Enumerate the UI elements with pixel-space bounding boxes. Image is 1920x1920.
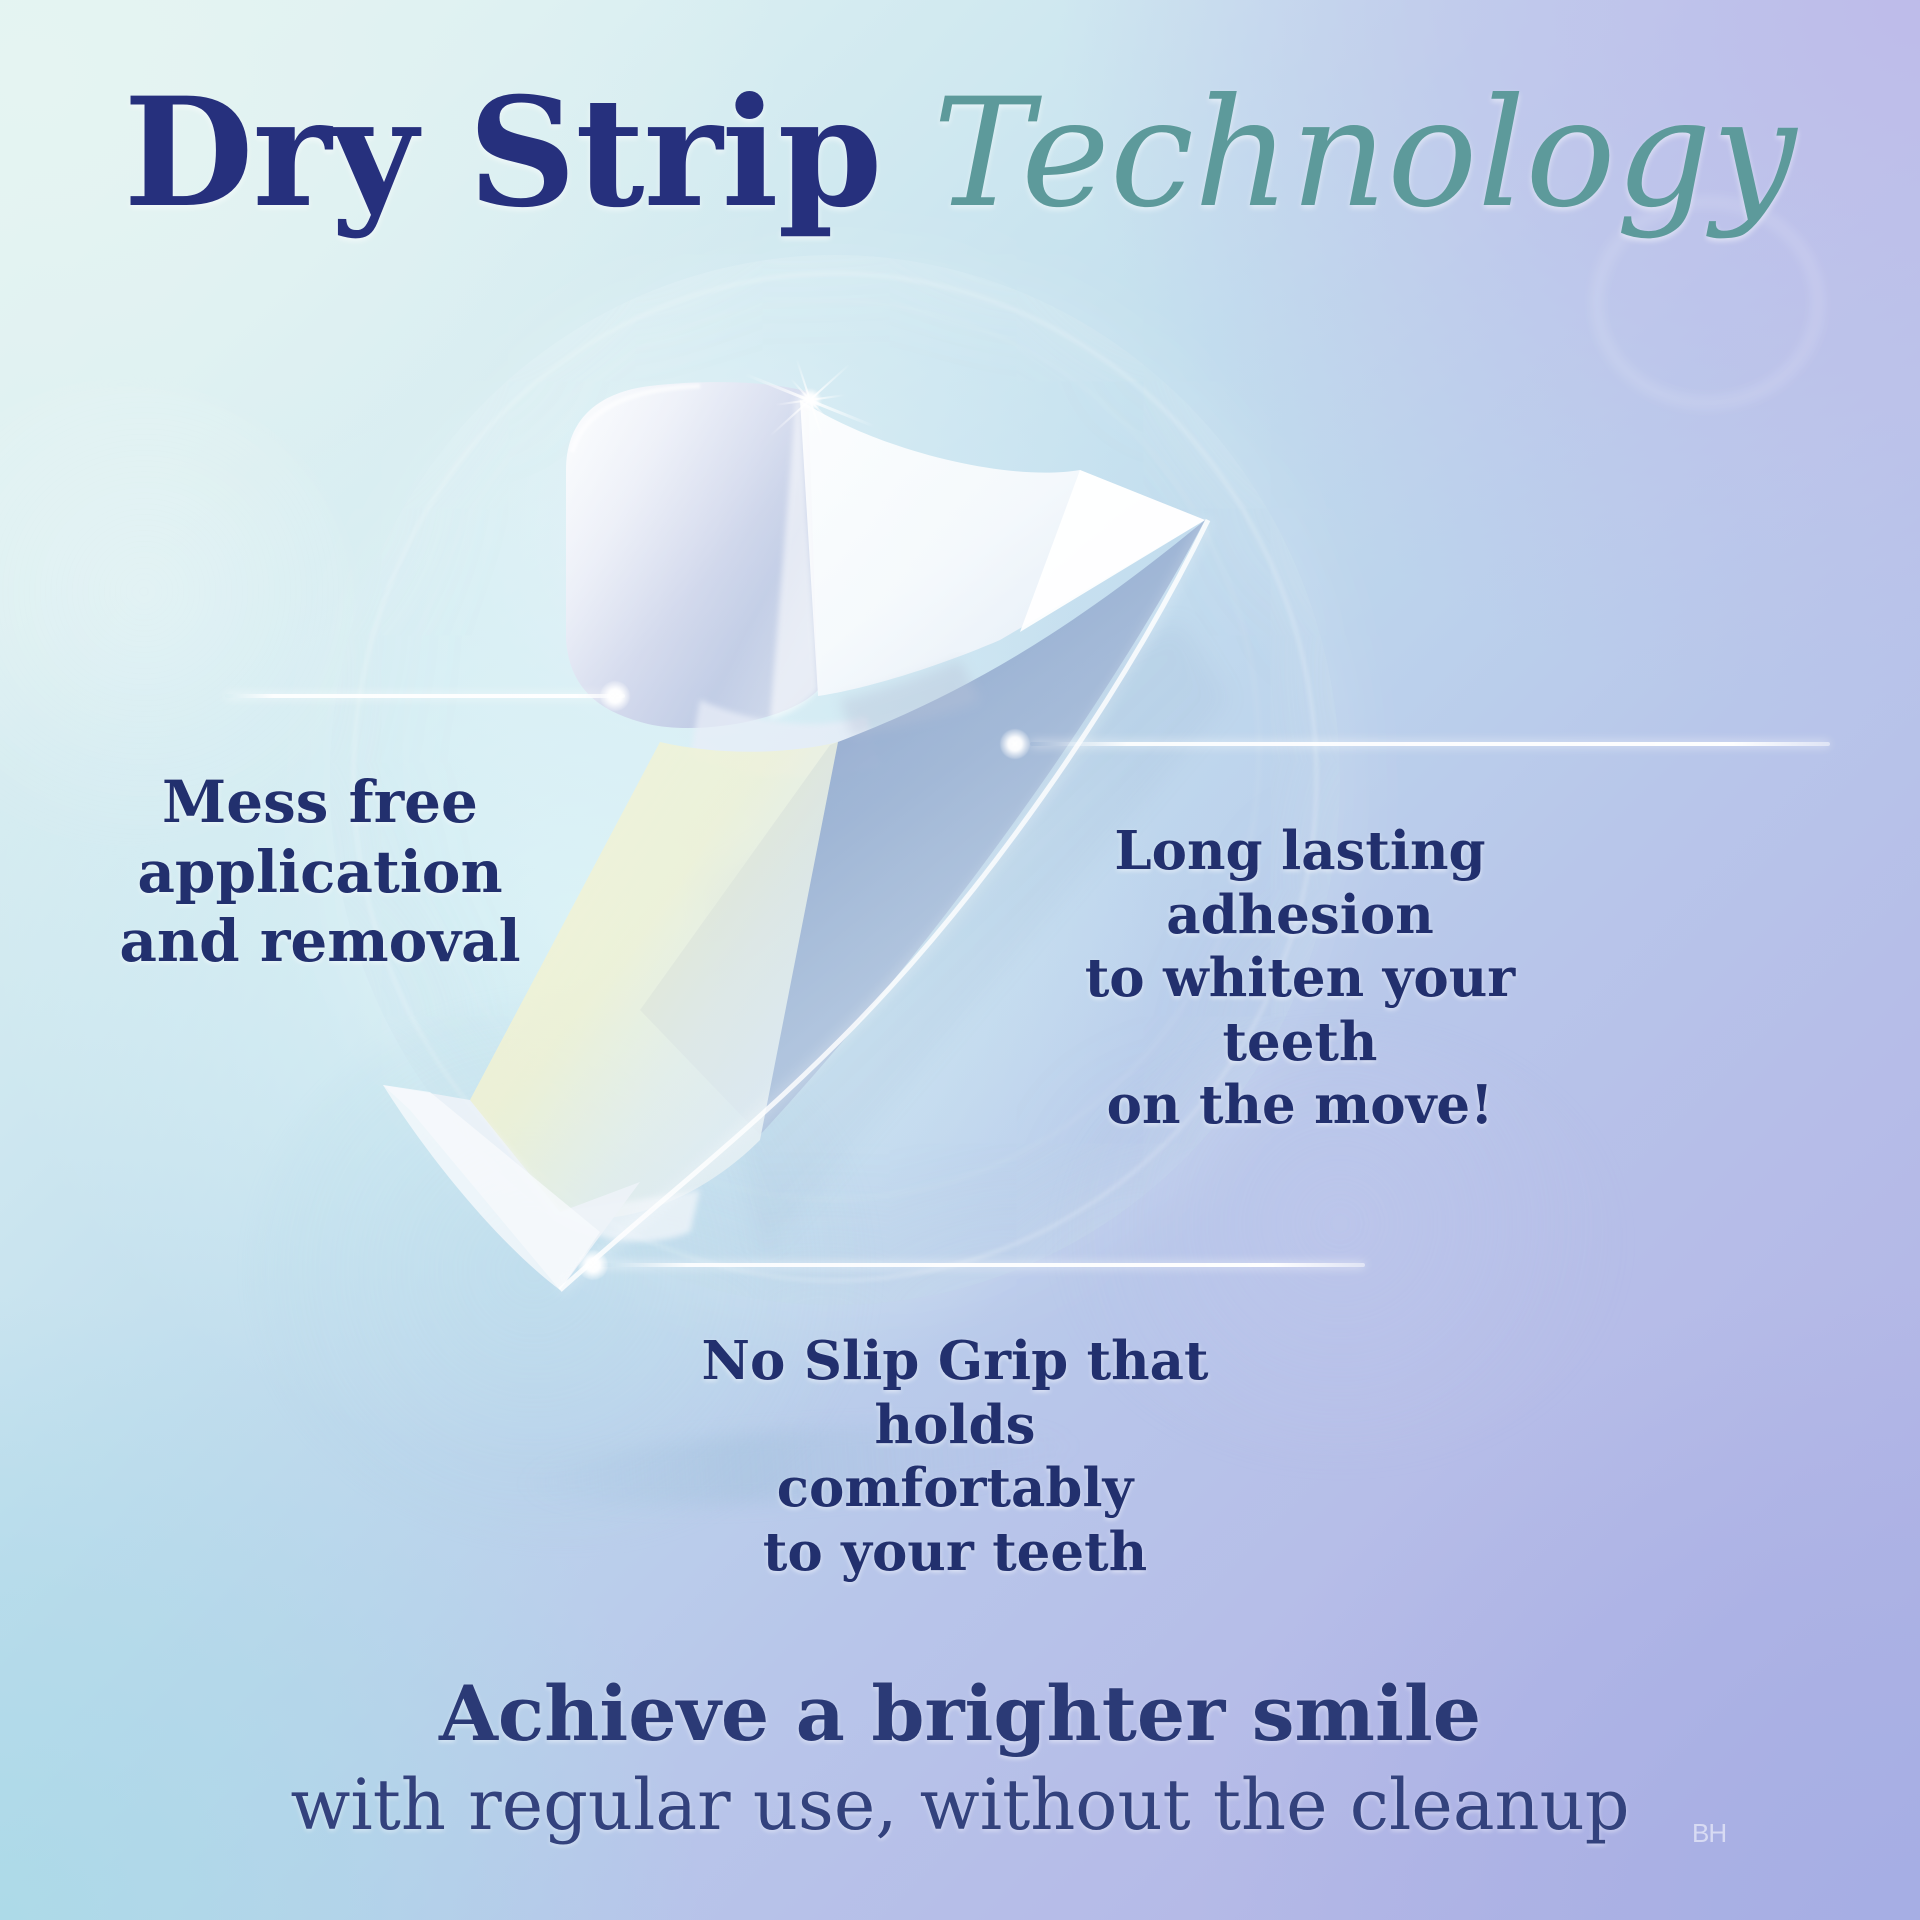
tagline-subline: with regular use, without the cleanup bbox=[0, 1763, 1920, 1847]
callout-line: on the move! bbox=[1000, 1074, 1600, 1138]
tagline-headline: Achieve a brighter smile bbox=[0, 1670, 1920, 1757]
page-title: Dry Strip Technology bbox=[0, 78, 1920, 229]
leader-line-bottom bbox=[595, 1263, 1365, 1267]
callout-line: and removal bbox=[60, 907, 580, 977]
title-bold-part: Dry Strip bbox=[124, 65, 882, 241]
callout-line: Long lasting adhesion bbox=[1000, 820, 1600, 947]
watermark-mark: BH bbox=[1692, 1818, 1726, 1849]
callout-line: to whiten your teeth bbox=[1000, 947, 1600, 1074]
callout-line: No Slip Grip that bbox=[690, 1330, 1220, 1394]
callout-dot-icon-right bbox=[1000, 729, 1030, 759]
callout-line: holds comfortably bbox=[690, 1394, 1220, 1521]
infographic-canvas: Dry Strip Technology Mess free applicati… bbox=[0, 0, 1920, 1920]
title-italic-part: Technology bbox=[933, 67, 1797, 241]
callout-long-lasting: Long lasting adhesion to whiten your tee… bbox=[1000, 820, 1600, 1138]
callout-line: to your teeth bbox=[690, 1521, 1220, 1585]
callout-line: Mess free bbox=[60, 768, 580, 838]
tagline-block: Achieve a brighter smile with regular us… bbox=[0, 1670, 1920, 1847]
leader-line-left bbox=[225, 694, 625, 698]
callout-dot-icon-left bbox=[600, 681, 630, 711]
callout-dot-icon-bottom bbox=[578, 1250, 608, 1280]
callout-line: application bbox=[60, 838, 580, 908]
callout-mess-free: Mess free application and removal bbox=[60, 768, 580, 977]
callout-no-slip-grip: No Slip Grip that holds comfortably to y… bbox=[690, 1330, 1220, 1584]
leader-line-right bbox=[1030, 742, 1830, 746]
title-space bbox=[882, 65, 933, 241]
